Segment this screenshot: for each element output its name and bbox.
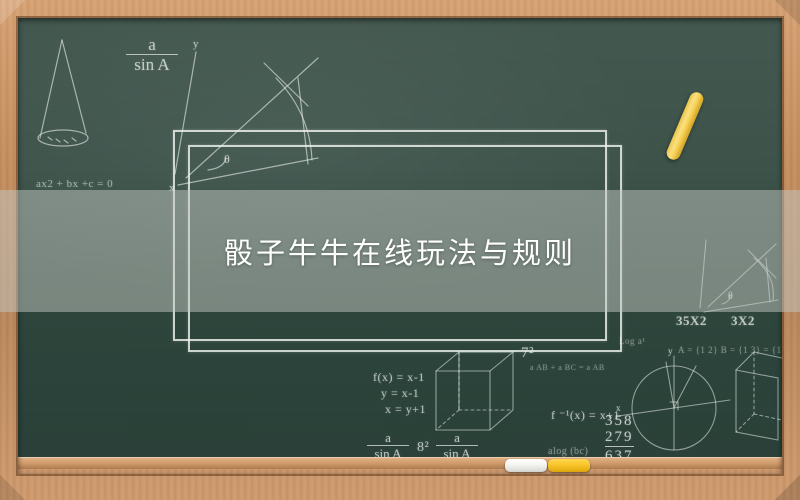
page-title: 骰子牛牛在线玩法与规则	[0, 190, 800, 312]
chalkboard-banner: a sin A y x θ ax2 + bx +c = 0	[0, 0, 800, 500]
